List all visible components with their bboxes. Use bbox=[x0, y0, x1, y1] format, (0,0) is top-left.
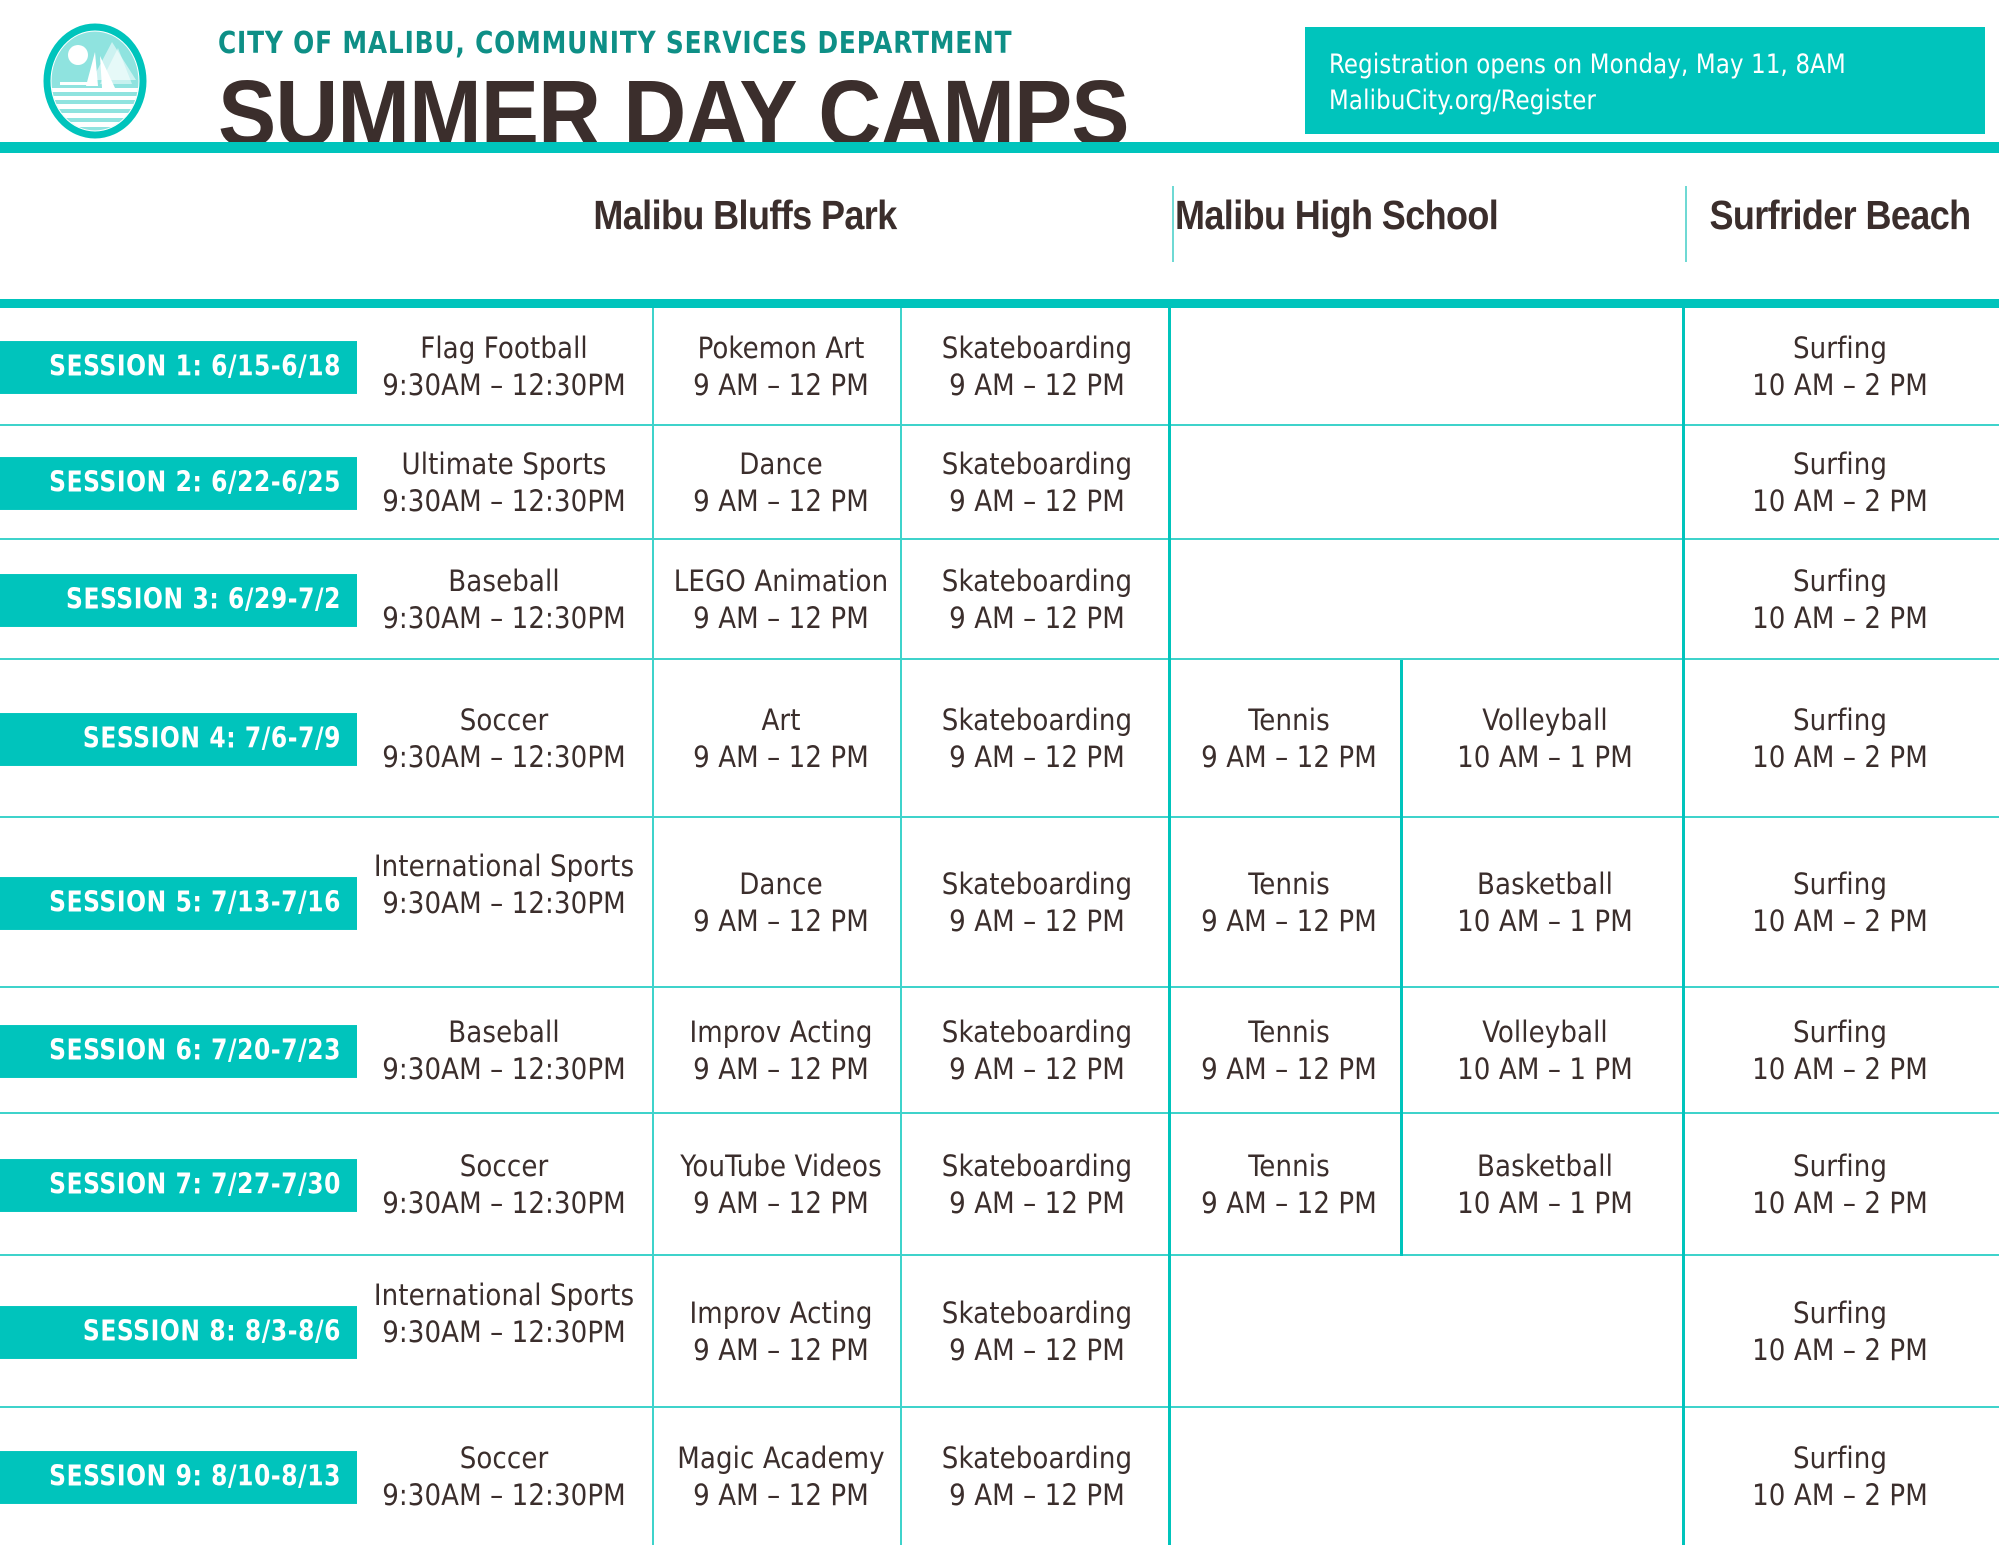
cell-divider bbox=[1168, 308, 1171, 1545]
camp-time: 10 AM – 1 PM bbox=[1418, 1185, 1672, 1222]
camp-cell: Ultimate Sports9:30AM – 12:30PM bbox=[360, 446, 648, 520]
camp-cell: Art9 AM – 12 PM bbox=[662, 702, 900, 776]
camp-cell: Skateboarding9 AM – 12 PM bbox=[908, 330, 1166, 404]
camp-time: 9 AM – 12 PM bbox=[916, 903, 1158, 940]
session-badge: SESSION 4: 7/6-7/9 bbox=[0, 713, 357, 766]
camp-cell: Basketball10 AM – 1 PM bbox=[1410, 1148, 1680, 1222]
camp-cell: Soccer9:30AM – 12:30PM bbox=[360, 1440, 648, 1514]
camp-time: 9 AM – 12 PM bbox=[916, 739, 1158, 776]
camp-cell: Soccer9:30AM – 12:30PM bbox=[360, 1148, 648, 1222]
camp-cell: Skateboarding9 AM – 12 PM bbox=[908, 446, 1166, 520]
session-badge: SESSION 7: 7/27-7/30 bbox=[0, 1159, 357, 1212]
camp-time: 9 AM – 12 PM bbox=[1183, 1185, 1395, 1222]
camp-cell: Skateboarding9 AM – 12 PM bbox=[908, 866, 1166, 940]
camp-time: 9 AM – 12 PM bbox=[670, 600, 892, 637]
camp-time: 9 AM – 12 PM bbox=[916, 1332, 1158, 1369]
camp-time: 9 AM – 12 PM bbox=[1183, 1051, 1395, 1088]
camp-cell: Skateboarding9 AM – 12 PM bbox=[908, 1014, 1166, 1088]
camp-cell: Skateboarding9 AM – 12 PM bbox=[908, 702, 1166, 776]
camp-time: 10 AM – 2 PM bbox=[1698, 1332, 1982, 1369]
camp-name: Tennis bbox=[1183, 1014, 1395, 1051]
camp-cell: Surfing10 AM – 2 PM bbox=[1690, 702, 1990, 776]
camp-name: Basketball bbox=[1418, 866, 1672, 903]
camp-time: 10 AM – 2 PM bbox=[1698, 600, 1982, 637]
table-row: SESSION 8: 8/3-8/6International Sports9:… bbox=[0, 1256, 1999, 1408]
camp-time: 9:30AM – 12:30PM bbox=[368, 367, 640, 404]
camp-cell: Surfing10 AM – 2 PM bbox=[1690, 1295, 1990, 1369]
camp-time: 9:30AM – 12:30PM bbox=[368, 885, 640, 922]
camp-time: 9 AM – 12 PM bbox=[916, 1051, 1158, 1088]
camp-name: Flag Football bbox=[368, 330, 640, 367]
camp-cell: YouTube Videos9 AM – 12 PM bbox=[662, 1148, 900, 1222]
camp-time: 10 AM – 2 PM bbox=[1698, 1477, 1982, 1514]
camp-time: 10 AM – 2 PM bbox=[1698, 1051, 1982, 1088]
table-row: SESSION 1: 6/15-6/18Flag Football9:30AM … bbox=[0, 308, 1999, 426]
camp-name: Surfing bbox=[1698, 702, 1982, 739]
camp-name: Soccer bbox=[368, 702, 640, 739]
camp-time: 9:30AM – 12:30PM bbox=[368, 1314, 640, 1351]
camp-cell: Magic Academy9 AM – 12 PM bbox=[662, 1440, 900, 1514]
camp-time: 9:30AM – 12:30PM bbox=[368, 1477, 640, 1514]
camp-cell: Improv Acting9 AM – 12 PM bbox=[662, 1295, 900, 1369]
camp-name: Volleyball bbox=[1418, 702, 1672, 739]
session-badge: SESSION 3: 6/29-7/2 bbox=[0, 574, 357, 627]
camp-time: 9:30AM – 12:30PM bbox=[368, 1051, 640, 1088]
camp-name: Surfing bbox=[1698, 1295, 1982, 1332]
session-badge: SESSION 2: 6/22-6/25 bbox=[0, 457, 357, 510]
camp-name: Skateboarding bbox=[916, 563, 1158, 600]
cell-divider bbox=[652, 308, 654, 1545]
camp-cell: Surfing10 AM – 2 PM bbox=[1690, 330, 1990, 404]
camp-name: Tennis bbox=[1183, 702, 1395, 739]
camp-name: Baseball bbox=[368, 1014, 640, 1051]
camp-name: Skateboarding bbox=[916, 1014, 1158, 1051]
session-badge: SESSION 9: 8/10-8/13 bbox=[0, 1451, 357, 1504]
camp-time: 9 AM – 12 PM bbox=[916, 1477, 1158, 1514]
column-header-malibu-high-school: Malibu High School bbox=[1175, 192, 1465, 239]
camp-name: Surfing bbox=[1698, 1440, 1982, 1477]
camp-name: Skateboarding bbox=[916, 446, 1158, 483]
camp-time: 9 AM – 12 PM bbox=[916, 483, 1158, 520]
camp-cell: Volleyball10 AM – 1 PM bbox=[1410, 1014, 1680, 1088]
column-header-surfrider-beach: Surfrider Beach bbox=[1690, 192, 1990, 239]
camp-cell: Tennis9 AM – 12 PM bbox=[1175, 702, 1403, 776]
camp-cell: Skateboarding9 AM – 12 PM bbox=[908, 1440, 1166, 1514]
camp-name: Dance bbox=[670, 866, 892, 903]
camp-name: Art bbox=[670, 702, 892, 739]
session-badge: SESSION 8: 8/3-8/6 bbox=[0, 1306, 357, 1359]
camp-cell: Dance9 AM – 12 PM bbox=[662, 446, 900, 520]
camp-name: Skateboarding bbox=[916, 1440, 1158, 1477]
camp-cell: Surfing10 AM – 2 PM bbox=[1690, 446, 1990, 520]
table-row: SESSION 7: 7/27-7/30Soccer9:30AM – 12:30… bbox=[0, 1114, 1999, 1256]
camp-time: 9 AM – 12 PM bbox=[670, 903, 892, 940]
camp-cell: Surfing10 AM – 2 PM bbox=[1690, 563, 1990, 637]
camp-cell: Surfing10 AM – 2 PM bbox=[1690, 1440, 1990, 1514]
camp-cell: Tennis9 AM – 12 PM bbox=[1175, 866, 1403, 940]
camp-schedule-table: SESSION 1: 6/15-6/18Flag Football9:30AM … bbox=[0, 308, 1999, 1545]
camp-name: Skateboarding bbox=[916, 702, 1158, 739]
camp-cell: Tennis9 AM – 12 PM bbox=[1175, 1148, 1403, 1222]
camp-name: Skateboarding bbox=[916, 866, 1158, 903]
camp-name: YouTube Videos bbox=[670, 1148, 892, 1185]
camp-name: Surfing bbox=[1698, 330, 1982, 367]
camp-time: 9 AM – 12 PM bbox=[670, 483, 892, 520]
table-row: SESSION 9: 8/10-8/13Soccer9:30AM – 12:30… bbox=[0, 1408, 1999, 1545]
camp-time: 9 AM – 12 PM bbox=[1183, 903, 1395, 940]
camp-name: Ultimate Sports bbox=[368, 446, 640, 483]
camp-time: 9 AM – 12 PM bbox=[916, 600, 1158, 637]
camp-name: Tennis bbox=[1183, 1148, 1395, 1185]
camp-name: Soccer bbox=[368, 1440, 640, 1477]
camp-cell: Baseball9:30AM – 12:30PM bbox=[360, 1014, 648, 1088]
camp-name: Soccer bbox=[368, 1148, 640, 1185]
registration-url-text[interactable]: MalibuCity.org/Register bbox=[1329, 83, 1925, 119]
camp-cell: Surfing10 AM – 2 PM bbox=[1690, 1148, 1990, 1222]
camp-cell: Soccer9:30AM – 12:30PM bbox=[360, 702, 648, 776]
camp-time: 9 AM – 12 PM bbox=[670, 1051, 892, 1088]
camp-name: LEGO Animation bbox=[670, 563, 892, 600]
camp-time: 10 AM – 1 PM bbox=[1418, 739, 1672, 776]
title-block: CITY OF MALIBU, COMMUNITY SERVICES DEPAR… bbox=[218, 26, 1093, 149]
poster-header: CITY OF MALIBU, COMMUNITY SERVICES DEPAR… bbox=[0, 0, 1999, 178]
camp-time: 9:30AM – 12:30PM bbox=[368, 483, 640, 520]
table-row: SESSION 6: 7/20-7/23Baseball9:30AM – 12:… bbox=[0, 988, 1999, 1114]
camp-cell: International Sports9:30AM – 12:30PM bbox=[360, 848, 648, 922]
camp-time: 9 AM – 12 PM bbox=[670, 739, 892, 776]
department-eyebrow: CITY OF MALIBU, COMMUNITY SERVICES DEPAR… bbox=[218, 26, 1023, 61]
camp-cell: International Sports9:30AM – 12:30PM bbox=[360, 1277, 648, 1351]
camp-time: 10 AM – 1 PM bbox=[1418, 1051, 1672, 1088]
camp-name: Dance bbox=[670, 446, 892, 483]
camp-name: Skateboarding bbox=[916, 330, 1158, 367]
camp-cell: Surfing10 AM – 2 PM bbox=[1690, 866, 1990, 940]
camp-time: 9:30AM – 12:30PM bbox=[368, 1185, 640, 1222]
camp-time: 9 AM – 12 PM bbox=[1183, 739, 1395, 776]
camp-time: 9 AM – 12 PM bbox=[670, 1185, 892, 1222]
summer-day-camps-poster: CITY OF MALIBU, COMMUNITY SERVICES DEPAR… bbox=[0, 0, 1999, 1545]
camp-cell: Volleyball10 AM – 1 PM bbox=[1410, 702, 1680, 776]
camp-name: Skateboarding bbox=[916, 1148, 1158, 1185]
table-row: SESSION 3: 6/29-7/2Baseball9:30AM – 12:3… bbox=[0, 540, 1999, 660]
camp-cell: Dance9 AM – 12 PM bbox=[662, 866, 900, 940]
camp-cell: Tennis9 AM – 12 PM bbox=[1175, 1014, 1403, 1088]
camp-time: 9 AM – 12 PM bbox=[670, 1332, 892, 1369]
session-badge: SESSION 1: 6/15-6/18 bbox=[0, 341, 357, 394]
camp-name: Surfing bbox=[1698, 1148, 1982, 1185]
camp-cell: Pokemon Art9 AM – 12 PM bbox=[662, 330, 900, 404]
camp-time: 9:30AM – 12:30PM bbox=[368, 739, 640, 776]
cell-divider bbox=[900, 308, 902, 1545]
camp-name: Basketball bbox=[1418, 1148, 1672, 1185]
camp-name: Volleyball bbox=[1418, 1014, 1672, 1051]
session-badge: SESSION 6: 7/20-7/23 bbox=[0, 1025, 357, 1078]
camp-time: 10 AM – 2 PM bbox=[1698, 903, 1982, 940]
camp-cell: Improv Acting9 AM – 12 PM bbox=[662, 1014, 900, 1088]
camp-cell: Basketball10 AM – 1 PM bbox=[1410, 866, 1680, 940]
camp-cell: Skateboarding9 AM – 12 PM bbox=[908, 563, 1166, 637]
camp-time: 10 AM – 2 PM bbox=[1698, 483, 1982, 520]
camp-time: 10 AM – 1 PM bbox=[1418, 903, 1672, 940]
column-header-malibu-bluffs-park: Malibu Bluffs Park bbox=[290, 192, 1200, 239]
camp-cell: LEGO Animation9 AM – 12 PM bbox=[662, 563, 900, 637]
camp-name: International Sports bbox=[368, 848, 640, 885]
camp-name: International Sports bbox=[368, 1277, 640, 1314]
camp-name: Baseball bbox=[368, 563, 640, 600]
camp-time: 9 AM – 12 PM bbox=[670, 1477, 892, 1514]
camp-name: Improv Acting bbox=[670, 1014, 892, 1051]
registration-date-text: Registration opens on Monday, May 11, 8A… bbox=[1329, 47, 1925, 83]
camp-name: Tennis bbox=[1183, 866, 1395, 903]
camp-name: Magic Academy bbox=[670, 1440, 892, 1477]
camp-time: 10 AM – 2 PM bbox=[1698, 367, 1982, 404]
camp-cell: Surfing10 AM – 2 PM bbox=[1690, 1014, 1990, 1088]
camp-time: 9 AM – 12 PM bbox=[916, 367, 1158, 404]
registration-banner[interactable]: Registration opens on Monday, May 11, 8A… bbox=[1305, 27, 1985, 134]
table-top-divider bbox=[0, 299, 1999, 308]
camp-time: 9:30AM – 12:30PM bbox=[368, 600, 640, 637]
column-divider-high bbox=[1172, 186, 1174, 262]
camp-cell: Flag Football9:30AM – 12:30PM bbox=[360, 330, 648, 404]
session-badge: SESSION 5: 7/13-7/16 bbox=[0, 877, 357, 930]
cell-divider bbox=[1400, 660, 1403, 1256]
header-divider bbox=[0, 142, 1999, 153]
camp-cell: Skateboarding9 AM – 12 PM bbox=[908, 1148, 1166, 1222]
malibu-city-seal-icon bbox=[40, 22, 150, 140]
column-headers: Malibu Bluffs Park Malibu High School Su… bbox=[0, 178, 1999, 262]
camp-name: Improv Acting bbox=[670, 1295, 892, 1332]
table-row: SESSION 5: 7/13-7/16International Sports… bbox=[0, 818, 1999, 988]
cell-divider bbox=[1682, 308, 1685, 1545]
table-row: SESSION 4: 7/6-7/9Soccer9:30AM – 12:30PM… bbox=[0, 660, 1999, 818]
table-row: SESSION 2: 6/22-6/25Ultimate Sports9:30A… bbox=[0, 426, 1999, 540]
camp-name: Surfing bbox=[1698, 563, 1982, 600]
camp-name: Pokemon Art bbox=[670, 330, 892, 367]
camp-time: 9 AM – 12 PM bbox=[916, 1185, 1158, 1222]
camp-time: 10 AM – 2 PM bbox=[1698, 739, 1982, 776]
column-divider-surfrider bbox=[1685, 186, 1687, 262]
camp-name: Skateboarding bbox=[916, 1295, 1158, 1332]
camp-name: Surfing bbox=[1698, 866, 1982, 903]
camp-cell: Skateboarding9 AM – 12 PM bbox=[908, 1295, 1166, 1369]
camp-name: Surfing bbox=[1698, 446, 1982, 483]
camp-cell: Baseball9:30AM – 12:30PM bbox=[360, 563, 648, 637]
camp-time: 10 AM – 2 PM bbox=[1698, 1185, 1982, 1222]
camp-time: 9 AM – 12 PM bbox=[670, 367, 892, 404]
camp-name: Surfing bbox=[1698, 1014, 1982, 1051]
